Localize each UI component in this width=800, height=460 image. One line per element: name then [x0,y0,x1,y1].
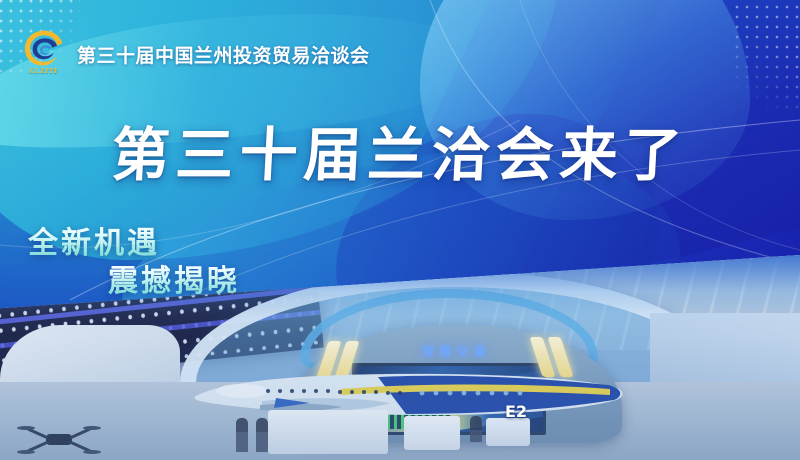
exhibit-kiosk [268,410,388,454]
poster-header: CLZITF 第三十届中国兰州投资贸易洽谈会 [22,28,370,80]
dot-pattern-top-right [732,2,800,112]
slogan-line-2: 震撼揭晓 [108,256,240,300]
poster-banner: CLZITF 第三十届中国兰州投资贸易洽谈会 第三十届兰洽会来了 全新机遇 震撼… [0,0,800,460]
visitor-figure [256,418,268,452]
exhibit-kiosk [404,416,460,450]
logo-abbreviation: CLZITF [22,67,66,75]
aircraft-model [190,365,630,423]
lanzhou-fair-swirl-logo-icon [22,28,66,68]
exhibit-kiosk [486,418,530,446]
screen-label: E2 [505,402,527,421]
visitor-figure [236,418,248,452]
main-title: 第三十届兰洽会来了 [0,108,800,192]
drone-model [16,422,102,456]
organization-title: 第三十届中国兰州投资贸易洽谈会 [77,41,370,68]
visitor-figure [470,416,482,442]
logo: CLZITF [22,28,68,80]
